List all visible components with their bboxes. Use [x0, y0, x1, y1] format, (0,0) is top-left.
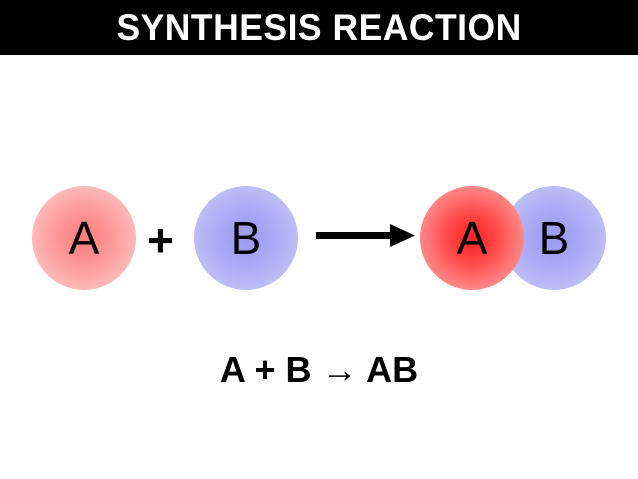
product-atom-b-label: B [539, 215, 570, 261]
product-atom-a-label: A [457, 215, 488, 261]
reactant-atom-b-label: B [231, 215, 262, 261]
reactant-atom-a-label: A [69, 215, 100, 261]
product-atom-a: A [420, 186, 524, 290]
page-title: SYNTHESIS REACTION [116, 9, 521, 46]
reactant-atom-a: A [32, 186, 136, 290]
reaction-arrow-icon [316, 221, 418, 256]
reactant-atom-b: B [194, 186, 298, 290]
reaction-diagram: A + B B A A + B → AB [0, 55, 638, 479]
reaction-equation: A + B → AB [0, 352, 638, 388]
title-bar: SYNTHESIS REACTION [0, 0, 638, 55]
plus-operator: + [147, 217, 174, 263]
